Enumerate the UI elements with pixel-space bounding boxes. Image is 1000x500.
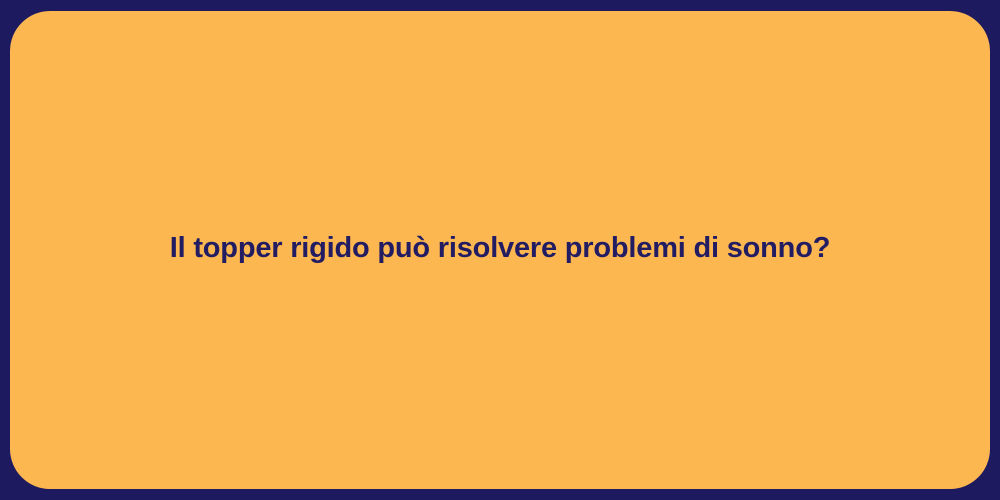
banner-frame: Il topper rigido può risolvere problemi … [0, 0, 1000, 500]
banner-card: Il topper rigido può risolvere problemi … [10, 11, 990, 489]
page-title: Il topper rigido può risolvere problemi … [170, 230, 830, 266]
headline-container: Il topper rigido può risolvere problemi … [10, 11, 990, 489]
